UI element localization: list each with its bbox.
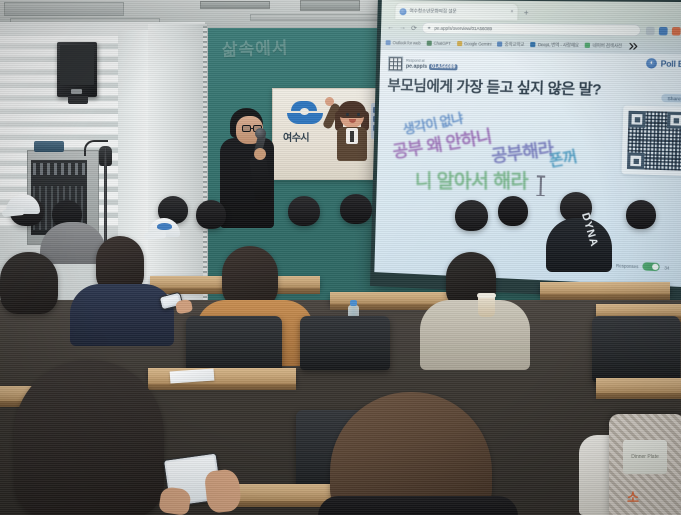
- lock-icon: ⚭: [427, 25, 431, 31]
- tab-title: 여수청소년문화의집 설문: [409, 8, 456, 14]
- bag-smile-graphic: 소: [627, 487, 665, 509]
- speaker-bracket: [68, 96, 88, 104]
- responses-toggle[interactable]: Responses 34: [616, 261, 670, 272]
- wall-script-text: 삶속에서: [221, 32, 322, 67]
- text-cursor-icon: [539, 175, 541, 196]
- reload-icon[interactable]: ⟳: [411, 24, 417, 32]
- word-cloud-item: 폰꺼: [547, 145, 579, 171]
- coffee-cup: [478, 296, 495, 317]
- bookmark-icon: [497, 42, 502, 47]
- address-bar-url: pe.app/s/overview/01A56089: [434, 26, 492, 32]
- speaker-grill: [60, 45, 94, 85]
- screen-surface: 여수청소년문화의집 설문 × + ← → ⟳ ⚭ pe.app/s/overvi…: [374, 0, 681, 287]
- student-desk: [596, 378, 681, 394]
- audience-head: [222, 246, 278, 308]
- close-icon[interactable]: ×: [510, 9, 513, 15]
- respond-qr-icon: [388, 56, 403, 71]
- profile-icon[interactable]: [659, 26, 668, 34]
- bookmark-icon: [531, 42, 536, 47]
- lecture-hall-photo: 삶속에서 여수시: [0, 0, 681, 515]
- microphone-stand: [104, 148, 107, 246]
- bookmark-icon: [427, 41, 432, 46]
- poll-everywhere-wordmark: Poll Eve: [661, 59, 681, 69]
- yeosu-mascot-character: [329, 93, 377, 177]
- ceiling-vent: [300, 0, 360, 11]
- bookmark-icon: [457, 41, 462, 46]
- extension-icon[interactable]: [672, 27, 681, 35]
- bookmarks-overflow-icon[interactable]: »: [628, 36, 638, 55]
- av-device-box: [34, 141, 64, 152]
- word-cloud-item: 니 알아서 해라: [415, 166, 528, 194]
- bookmark-item[interactable]: 중학교학교: [497, 41, 524, 47]
- microphone-head: [255, 128, 266, 139]
- audience-head: [288, 196, 320, 226]
- bookmark-icon: [585, 43, 590, 48]
- yeosu-city-logo: [287, 101, 323, 127]
- tab-favicon: [399, 8, 406, 15]
- word-cloud-item: 공부해라: [490, 134, 555, 167]
- toggle-switch[interactable]: [643, 262, 660, 271]
- share-pill-button[interactable]: Share: [661, 94, 681, 103]
- poll-everywhere-page: ◐ Poll Eve Respond at pe.app/s 01A56089 …: [374, 50, 681, 287]
- projection-screen: 여수청소년문화의집 설문 × + ← → ⟳ ⚭ pe.app/s/overvi…: [370, 0, 681, 302]
- tweed-tote-bag: Dinner Plate 소: [609, 414, 681, 515]
- chair: [186, 316, 282, 376]
- bookmark-label: Outlook for web: [393, 40, 421, 45]
- audience-grey-hoodie: [420, 300, 530, 370]
- respond-instruction-badge: Respond at pe.app/s 01A56089: [388, 56, 458, 72]
- browser-toolbar-icons: [646, 26, 681, 35]
- ceiling-panel: [250, 14, 390, 21]
- chair: [300, 316, 390, 370]
- respond-url: pe.app/s: [406, 63, 427, 69]
- bookmark-label: 중학교학교: [505, 41, 525, 47]
- respond-instruction-label: Respond at: [406, 58, 458, 63]
- browser-tab[interactable]: 여수청소년문화의집 설문 ×: [395, 3, 518, 20]
- wall-pa-speaker: [57, 42, 97, 97]
- address-bar[interactable]: ⚭ pe.app/s/overview/01A56089: [422, 22, 641, 36]
- audience-shoulders: [318, 496, 518, 515]
- audience-head-foreground: [14, 360, 164, 515]
- poll-everywhere-logo: ◐ Poll Eve: [646, 58, 681, 69]
- bookmark-icon: [386, 40, 391, 45]
- bookmark-label: ChatGPT: [434, 41, 451, 46]
- back-icon[interactable]: ←: [387, 24, 394, 31]
- bookmark-label: DeepL 번역 - 사랑해요: [538, 42, 579, 49]
- bookmark-item[interactable]: Google Gemini: [457, 41, 492, 47]
- bag-label: Dinner Plate: [623, 440, 667, 474]
- mixer-input-strip: [33, 163, 85, 175]
- audience-head: [0, 252, 58, 314]
- audience-head: [455, 200, 488, 231]
- speaker-logo: [71, 89, 82, 94]
- responses-label: Responses: [616, 263, 639, 269]
- bookmark-item[interactable]: 네이버 검색사전: [585, 42, 622, 49]
- presenter-hand: [254, 148, 266, 160]
- audience-hand: [204, 468, 242, 513]
- new-tab-icon[interactable]: +: [524, 8, 529, 17]
- bookmark-item[interactable]: DeepL 번역 - 사랑해요: [531, 41, 579, 48]
- chair: [592, 316, 680, 382]
- poll-question: 부모님에게 가장 듣고 싶지 않은 말?: [387, 74, 634, 100]
- bookmark-label: Google Gemini: [464, 41, 492, 46]
- student-desk: [540, 282, 670, 295]
- audience-head: [196, 200, 226, 229]
- poll-everywhere-mark: ◐: [646, 58, 657, 69]
- audience-jacket: [546, 218, 612, 272]
- audience-head: [340, 194, 372, 224]
- audience-hoodie: [70, 284, 174, 346]
- bookmark-item[interactable]: Outlook for web: [386, 40, 421, 45]
- responses-count: 34: [664, 265, 669, 270]
- bookmark-item[interactable]: ChatGPT: [427, 41, 451, 46]
- forward-icon[interactable]: →: [399, 24, 406, 31]
- ceiling-panel: [4, 2, 124, 16]
- bookmark-label: 네이버 검색사전: [592, 42, 622, 49]
- audience-head: [626, 200, 656, 229]
- respond-code: 01A56089: [429, 64, 457, 71]
- ceiling-vent: [200, 1, 270, 9]
- audience-head: [498, 196, 528, 226]
- extensions-icon[interactable]: [646, 26, 655, 34]
